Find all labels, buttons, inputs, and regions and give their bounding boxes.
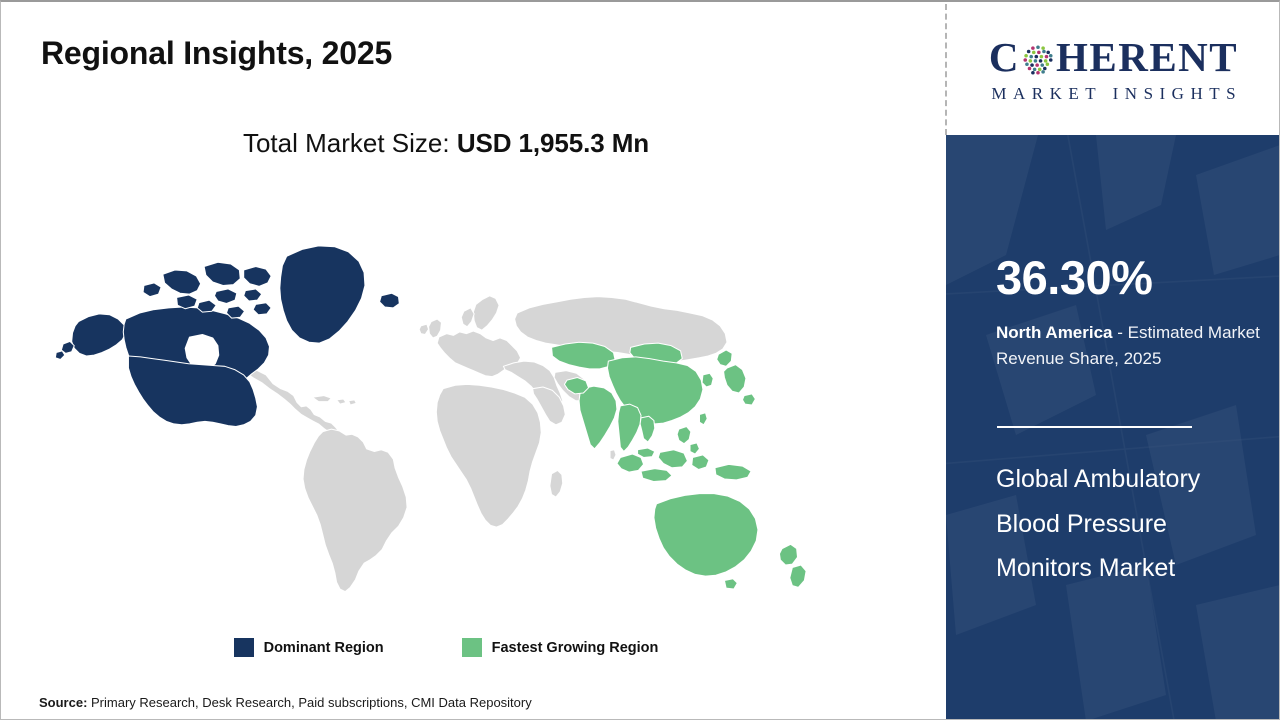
legend-label-dominant: Dominant Region [264,640,384,656]
legend-label-fastest-growing: Fastest Growing Region [492,640,659,656]
total-market-size: Total Market Size: USD 1,955.3 Mn [1,128,891,159]
right-stat-panel: 36.30% North America - Estimated Market … [946,135,1280,720]
source-text: Primary Research, Desk Research, Paid su… [91,695,532,710]
logo-tagline: MARKET INSIGHTS [985,85,1242,102]
stat-caption: North America - Estimated Market Revenue… [996,320,1264,373]
legend-item-dominant: Dominant Region [234,638,384,657]
infographic-page: Regional Insights, 2025 Total Market Siz… [0,0,1280,720]
stat-percentage: 36.30% [996,254,1152,301]
logo-wordmark-rest: HERENT [1056,37,1238,78]
world-map-svg [29,184,909,614]
market-report-title: Global Ambulatory Blood Pressure Monitor… [996,457,1258,591]
left-content-pane: Regional Insights, 2025 Total Market Siz… [1,2,945,720]
logo-wordmark: C [989,37,1238,78]
globe-dots-icon [1021,43,1055,77]
legend-swatch-dominant-icon [234,638,254,657]
stat-region-name: North America [996,323,1113,342]
brand-logo: C [948,4,1279,135]
total-market-size-value: USD 1,955.3 Mn [457,128,649,158]
legend-swatch-fastest-growing-icon [462,638,482,657]
map-legend: Dominant Region Fastest Growing Region [1,638,891,657]
total-market-size-label: Total Market Size: [243,128,457,158]
panel-divider [997,426,1192,428]
panel-content: 36.30% North America - Estimated Market … [996,135,1262,720]
map-region-dominant [55,246,399,427]
map-region-fastest [552,342,807,589]
page-title: Regional Insights, 2025 [41,35,392,72]
legend-item-fastest-growing: Fastest Growing Region [462,638,659,657]
world-map [29,184,909,614]
logo-wordmark-first-letter: C [989,37,1020,78]
vertical-dashed-divider [945,4,947,135]
source-note: Source: Primary Research, Desk Research,… [39,695,532,710]
source-label: Source: [39,695,91,710]
